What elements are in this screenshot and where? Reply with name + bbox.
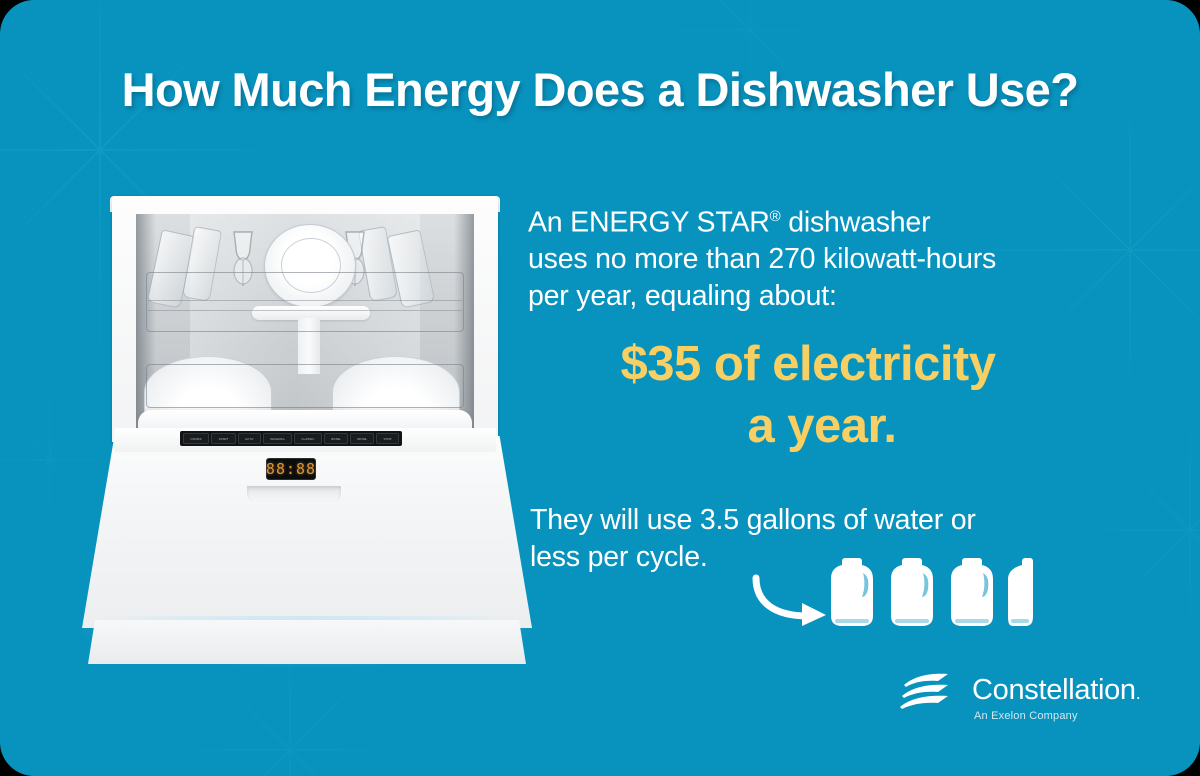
water-jug-full-icon	[948, 556, 996, 628]
control-button-stop[interactable]: STOP	[376, 433, 399, 444]
display-value: 88:88	[266, 460, 316, 478]
infographic-card: How Much Energy Does a Dishwasher Use? A…	[0, 0, 1200, 776]
energy-star-description: An ENERGY STAR® dishwasher uses no more …	[528, 199, 1108, 314]
rack-rail	[148, 310, 462, 311]
dishwasher-interior	[136, 214, 474, 436]
brand-name: Constellation.	[972, 674, 1140, 707]
water-jug-half-icon	[1008, 556, 1034, 628]
water-line-2: less per cycle.	[530, 541, 708, 573]
control-button-row[interactable]: ON/OFF START AUTO WASHING CLASSIC RINSE …	[180, 431, 402, 446]
control-button-rinse-1[interactable]: RINSE	[324, 433, 348, 444]
registered-mark: ®	[770, 208, 781, 225]
lower-rack	[146, 364, 464, 408]
brand-tagline: An Exelon Company	[974, 710, 1078, 722]
dishwasher-illustration: ON/OFF START AUTO WASHING CLASSIC RINSE …	[82, 196, 532, 666]
control-button-on-off[interactable]: ON/OFF	[183, 433, 209, 444]
dishwasher-display: 88:88	[266, 458, 316, 480]
body-line-1a: An ENERGY STAR	[528, 207, 770, 239]
water-jug-full-icon	[828, 556, 876, 628]
control-button-auto[interactable]: AUTO	[238, 433, 261, 444]
constellation-mark-icon	[898, 672, 962, 716]
body-line-3: per year, equaling about:	[528, 280, 837, 312]
water-jug-full-icon	[888, 556, 936, 628]
control-button-rinse-2[interactable]: RINSE	[350, 433, 374, 444]
cost-highlight-line-2: a year.	[528, 395, 1088, 457]
dishwasher-handle[interactable]	[247, 486, 341, 502]
cost-highlight: $35 of electricity a year.	[528, 333, 1088, 457]
water-jug-group	[828, 556, 1048, 628]
dishwasher-plinth	[88, 620, 526, 664]
rack-rail	[148, 300, 462, 301]
control-button-washing[interactable]: WASHING	[263, 433, 292, 444]
page-title: How Much Energy Does a Dishwasher Use?	[0, 62, 1200, 117]
control-button-start[interactable]: START	[211, 433, 235, 444]
body-line-2: uses no more than 270 kilowatt-hours	[528, 243, 996, 275]
brand-name-text: Constellation	[972, 674, 1136, 706]
control-button-classic[interactable]: CLASSIC	[294, 433, 322, 444]
upper-rack	[146, 272, 464, 332]
body-line-1b: dishwasher	[781, 207, 931, 239]
brand-trademark: .	[1136, 683, 1141, 703]
cost-highlight-line-1: $35 of electricity	[528, 333, 1088, 395]
water-line-1: They will use 3.5 gallons of water or	[530, 504, 976, 536]
brand-logo: Constellation. An Exelon Company	[898, 668, 1148, 730]
